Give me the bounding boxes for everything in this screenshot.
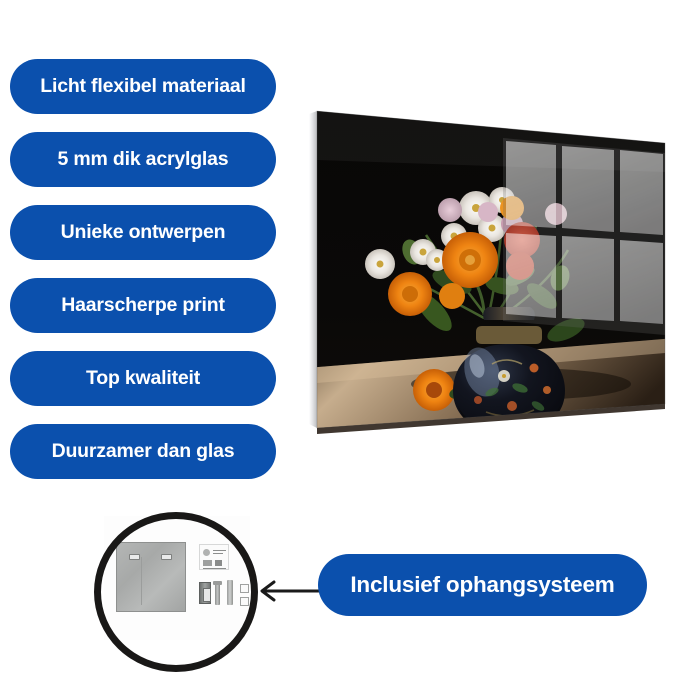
- hanging-kit-circle-outline: [94, 512, 258, 672]
- feature-badge-2[interactable]: 5 mm dik acrylglas: [10, 132, 276, 187]
- pointer-arrow-icon: [254, 578, 324, 606]
- feature-badge-list: Licht flexibel materiaal 5 mm dik acrylg…: [10, 59, 276, 497]
- feature-badge-label: Unieke ontwerpen: [61, 223, 226, 243]
- feature-badge-1[interactable]: Licht flexibel materiaal: [10, 59, 276, 114]
- acrylic-panel: [306, 100, 676, 445]
- feature-badge-label: Duurzamer dan glas: [52, 442, 235, 462]
- feature-badge-label: Haarscherpe print: [61, 296, 225, 316]
- feature-badge-label: 5 mm dik acrylglas: [58, 150, 229, 170]
- feature-badge-4[interactable]: Haarscherpe print: [10, 278, 276, 333]
- product-artwork: [306, 100, 676, 445]
- panel-left-edge: [309, 111, 317, 428]
- feature-badge-6[interactable]: Duurzamer dan glas: [10, 424, 276, 479]
- hanging-system-badge-label: Inclusief ophangsysteem: [350, 572, 614, 598]
- feature-badge-5[interactable]: Top kwaliteit: [10, 351, 276, 406]
- feature-badge-label: Licht flexibel materiaal: [40, 77, 245, 97]
- feature-badge-label: Top kwaliteit: [86, 369, 200, 389]
- feature-badge-3[interactable]: Unieke ontwerpen: [10, 205, 276, 260]
- hanging-system-badge[interactable]: Inclusief ophangsysteem: [318, 554, 647, 616]
- artwork-content: [306, 100, 676, 445]
